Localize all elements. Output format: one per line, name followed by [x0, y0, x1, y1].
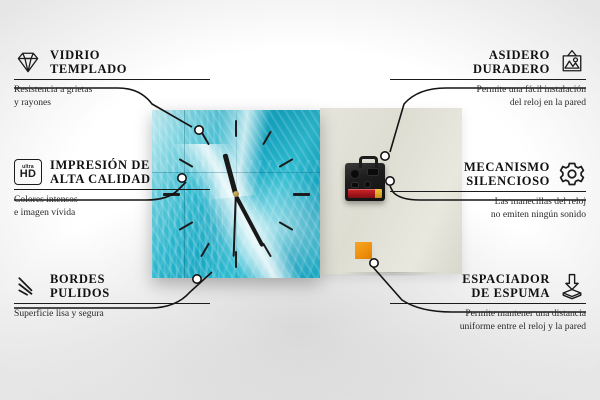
feature-desc-line2: uniforme entre el reloj y la pared — [390, 321, 586, 333]
clock-tick-7 — [200, 243, 210, 258]
feature-description: Colores intensos e imagen vívida — [14, 194, 210, 219]
feature-desc-line1: Colores intensos — [14, 194, 210, 206]
infographic-canvas: VIDRIO TEMPLADO Resistencia a grietas y … — [0, 0, 600, 400]
mechanism-hanger-lug — [359, 156, 378, 168]
clock-mechanism-module — [345, 163, 385, 201]
clock-tick-2 — [279, 158, 294, 168]
feature-impresion-alta-calidad: ultra HD IMPRESIÓN DE ALTA CALIDAD Color… — [14, 158, 210, 219]
feature-title-line2: TEMPLADO — [50, 62, 127, 76]
feature-title-line2: DURADERO — [473, 62, 550, 76]
feature-title: ASIDERO DURADERO — [473, 48, 550, 76]
feature-title: MECANISMO SILENCIOSO — [464, 160, 550, 188]
feature-desc-line1: Las manecillas del reloj — [390, 196, 586, 208]
feature-desc-line2: y rayones — [14, 97, 210, 109]
diamond-icon — [14, 48, 42, 76]
feature-bordes-pulidos: BORDES PULIDOS Superficie lisa y segura — [14, 272, 210, 321]
polished-edges-icon — [14, 272, 42, 300]
feature-header: ultra HD IMPRESIÓN DE ALTA CALIDAD — [14, 158, 210, 186]
mechanism-dial-3 — [351, 182, 359, 188]
feature-divider — [390, 79, 586, 80]
feature-desc-line2: e imagen vívida — [14, 207, 210, 219]
feature-title-line1: ASIDERO — [473, 48, 550, 62]
clock-hand-minute — [234, 195, 264, 247]
feature-title-line1: ESPACIADOR — [462, 272, 550, 286]
feature-divider — [14, 303, 210, 304]
feature-title: ESPACIADOR DE ESPUMA — [462, 272, 550, 300]
aa-battery — [348, 189, 382, 198]
clock-tick-4 — [279, 221, 294, 231]
clock-center-hub — [233, 191, 239, 197]
clock-tick-3 — [293, 193, 310, 196]
feature-vidrio-templado: VIDRIO TEMPLADO Resistencia a grietas y … — [14, 48, 210, 109]
feature-title-line1: IMPRESIÓN DE — [50, 158, 151, 172]
feature-title: BORDES PULIDOS — [50, 272, 110, 300]
feature-description: Permite una fácil instalación del reloj … — [390, 84, 586, 109]
feature-title-line1: VIDRIO — [50, 48, 127, 62]
clock-tick-6 — [235, 251, 237, 268]
feature-desc-line1: Permite mantener una distancia — [390, 308, 586, 320]
feature-description: Las manecillas del reloj no emiten ningú… — [390, 196, 586, 221]
feature-header: ESPACIADOR DE ESPUMA — [390, 272, 586, 300]
feature-title-line2: DE ESPUMA — [462, 286, 550, 300]
foam-spacer-pad — [355, 242, 372, 259]
clock-tick-1 — [262, 131, 272, 146]
feature-title: VIDRIO TEMPLADO — [50, 48, 127, 76]
feature-desc-line2: del reloj en la pared — [390, 97, 586, 109]
feature-desc-line1: Permite una fácil instalación — [390, 84, 586, 96]
mechanism-dial-4 — [364, 181, 371, 188]
hanging-picture-frame-icon — [558, 48, 586, 76]
clock-tick-8 — [179, 221, 194, 231]
clock-tick-12 — [235, 120, 237, 137]
feature-header: MECANISMO SILENCIOSO — [390, 160, 586, 188]
feature-asidero-duradero: ASIDERO DURADERO Permite una fácil insta… — [390, 48, 586, 109]
feature-mecanismo-silencioso: MECANISMO SILENCIOSO Las manecillas del … — [390, 160, 586, 221]
arrow-down-onto-pad-icon — [558, 272, 586, 300]
feature-title-line2: ALTA CALIDAD — [50, 172, 151, 186]
feature-desc-line1: Resistencia a grietas — [14, 84, 210, 96]
gear-icon — [558, 160, 586, 188]
feature-header: ASIDERO DURADERO — [390, 48, 586, 76]
feature-description: Superficie lisa y segura — [14, 308, 210, 320]
feature-header: VIDRIO TEMPLADO — [14, 48, 210, 76]
ultra-hd-badge-icon: ultra HD — [14, 159, 42, 185]
mechanism-dial-1 — [350, 169, 360, 179]
feature-description: Resistencia a grietas y rayones — [14, 84, 210, 109]
feature-title-line2: SILENCIOSO — [464, 174, 550, 188]
feature-espaciador-de-espuma: ESPACIADOR DE ESPUMA Permite mantener un… — [390, 272, 586, 333]
feature-desc-line1: Superficie lisa y segura — [14, 308, 210, 320]
feature-divider — [390, 303, 586, 304]
feature-title: IMPRESIÓN DE ALTA CALIDAD — [50, 158, 151, 186]
feature-description: Permite mantener una distancia uniforme … — [390, 308, 586, 333]
ultra-hd-badge-main-text: HD — [20, 169, 37, 180]
feature-divider — [14, 79, 210, 80]
feature-divider — [14, 189, 210, 190]
feature-divider — [390, 191, 586, 192]
battery-plus-terminal — [377, 191, 381, 193]
mechanism-dial-2 — [367, 168, 379, 176]
feature-title-line1: BORDES — [50, 272, 110, 286]
feature-title-line1: MECANISMO — [464, 160, 550, 174]
feature-header: BORDES PULIDOS — [14, 272, 210, 300]
feature-desc-line2: no emiten ningún sonido — [390, 209, 586, 221]
feature-title-line2: PULIDOS — [50, 286, 110, 300]
